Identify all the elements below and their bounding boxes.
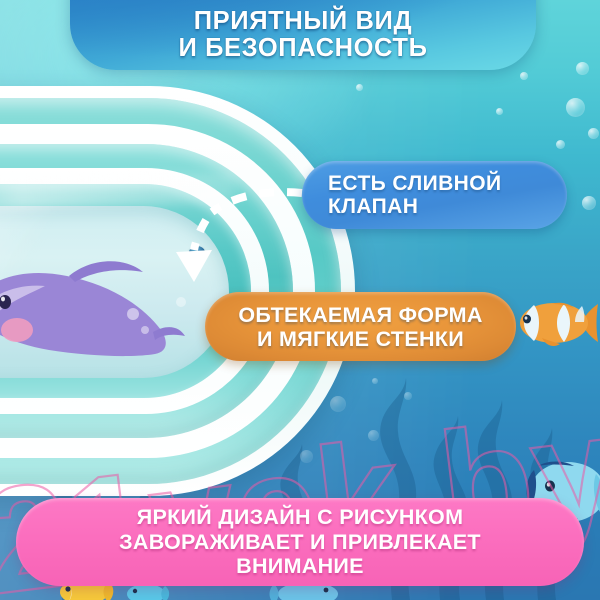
bottom-banner-line-1: ЯРКИЙ ДИЗАЙН С РИСУНКОМ: [40, 505, 560, 530]
callout-drain-valve-line-2: КЛАПАН: [328, 195, 541, 219]
callout-soft-walls[interactable]: ОБТЕКАЕМАЯ ФОРМА И МЯГКИЕ СТЕНКИ: [205, 292, 516, 361]
bubble-icon: [556, 140, 565, 149]
infographic-canvas: ПРИЯТНЫЙ ВИД И БЕЗОПАСНОСТЬ ЕСТЬ СЛИВНОЙ…: [0, 0, 600, 600]
bottom-headline-banner: ЯРКИЙ ДИЗАЙН С РИСУНКОМ ЗАВОРАЖИВАЕТ И П…: [16, 498, 584, 586]
top-banner-line-2: И БЕЗОПАСНОСТЬ: [178, 35, 427, 62]
callout-soft-walls-line-1: ОБТЕКАЕМАЯ ФОРМА: [223, 303, 498, 327]
callout-drain-valve-line-1: ЕСТЬ СЛИВНОЙ: [328, 172, 541, 196]
inflatable-pool: [0, 86, 355, 496]
bubble-icon: [404, 392, 412, 400]
bubble-icon: [368, 430, 379, 441]
bubble-icon: [520, 72, 528, 80]
top-headline-banner: ПРИЯТНЫЙ ВИД И БЕЗОПАСНОСТЬ: [70, 0, 536, 70]
bottom-banner-line-3: ВНИМАНИЕ: [40, 554, 560, 579]
pool-basin: [0, 206, 229, 378]
bubble-icon: [582, 196, 596, 210]
clownfish-icon: [512, 292, 600, 354]
bubble-icon: [566, 98, 585, 117]
bubble-icon: [576, 62, 589, 75]
drain-valve-icon: [189, 246, 205, 259]
bubble-icon: [356, 84, 363, 91]
bubble-icon: [588, 128, 599, 139]
dolphin-print: [0, 206, 229, 378]
bubble-icon: [496, 108, 503, 115]
callout-soft-walls-line-2: И МЯГКИЕ СТЕНКИ: [223, 327, 498, 351]
bottom-banner-line-2: ЗАВОРАЖИВАЕТ И ПРИВЛЕКАЕТ: [40, 530, 560, 555]
top-banner-line-1: ПРИЯТНЫЙ ВИД: [178, 8, 427, 35]
bubble-icon: [372, 378, 378, 384]
callout-drain-valve[interactable]: ЕСТЬ СЛИВНОЙ КЛАПАН: [302, 161, 567, 229]
